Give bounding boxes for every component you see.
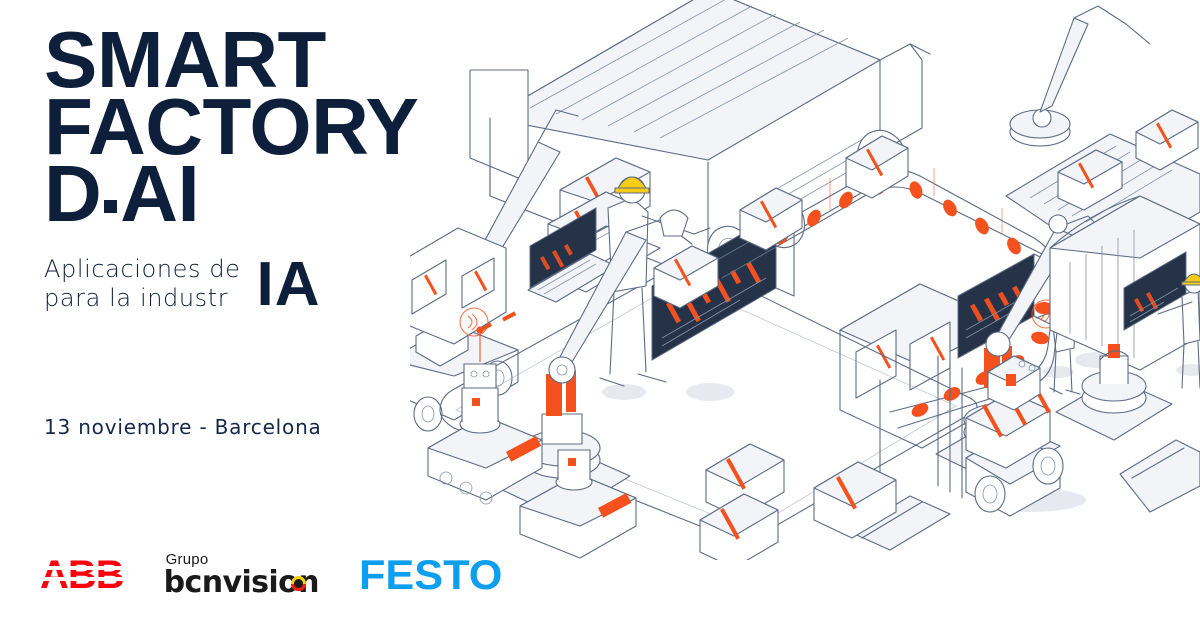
logo-festo[interactable]: FESTO <box>359 554 502 596</box>
hmi-screen-centre <box>410 208 794 360</box>
pedestal-robots-right <box>1056 344 1172 440</box>
logo-abb[interactable]: ABB <box>40 556 124 594</box>
subtitle-block: Aplicaciones de para la industr IA <box>44 252 321 316</box>
smart-factory-banner: SMART FACTORY DAI Aplicaciones de para l… <box>0 0 1200 627</box>
worker-upper <box>1036 278 1080 394</box>
forklift <box>814 356 1086 550</box>
headline-line-3-d: D <box>44 149 101 238</box>
subtitle-line-1: Aplicaciones de <box>44 255 241 284</box>
robot-arm-centre <box>494 210 692 518</box>
logo-bcnvision-wordmark: bcnvision <box>164 568 319 598</box>
headline-line-3-ai: AI <box>120 149 199 238</box>
pallet-far-right <box>1120 440 1200 512</box>
sponsor-logo-bar: ABB Grupo bcnvision FESTO <box>40 552 498 598</box>
logo-bcnvision[interactable]: Grupo bcnvision <box>164 552 319 598</box>
event-date-location: 13 noviembre - Barcelona <box>44 415 322 439</box>
worker-right <box>1124 252 1200 388</box>
logo-bcnvision-eye-icon <box>291 576 306 591</box>
worker-centre <box>600 177 710 400</box>
subtitle-text: Aplicaciones de para la industr <box>44 255 241 314</box>
headline-separator-dot <box>104 200 117 213</box>
conveyor-top-right <box>1006 110 1200 266</box>
logo-abb-text: ABB <box>40 555 124 595</box>
agv-bottom-centre <box>520 450 636 558</box>
boxes-bottom <box>700 444 784 560</box>
page-title: SMART FACTORY DAI <box>44 26 604 228</box>
logo-abb-stripe-bottom <box>40 577 124 581</box>
headline-block: SMART FACTORY DAI <box>44 26 604 228</box>
logo-abb-stripe-top <box>40 566 124 570</box>
agv-bottom-left <box>428 308 542 504</box>
subtitle-line-2: para la industr <box>44 284 241 313</box>
machine-enclosure-right <box>1050 196 1200 370</box>
robot-arm-right <box>936 215 1110 484</box>
factory-floor <box>440 263 977 540</box>
workstation-upper <box>840 254 1050 448</box>
curved-conveyor <box>654 136 1063 428</box>
robot-arm-top-right <box>1010 6 1150 146</box>
ia-emphasis: IA <box>257 254 321 316</box>
